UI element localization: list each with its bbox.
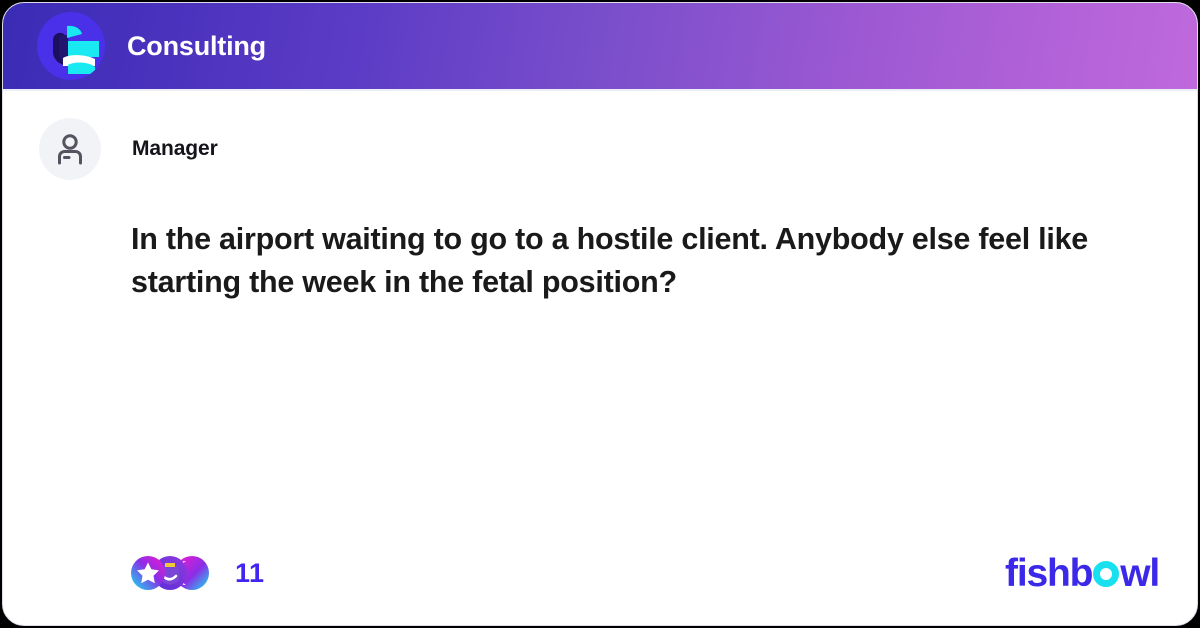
fishbowl-brand-wordmark: fishbwl	[1005, 554, 1159, 593]
card-body: Manager In the airport waiting to go to …	[3, 91, 1197, 625]
brand-text-first: fishb	[1005, 554, 1092, 593]
reactions-group[interactable]: 11	[131, 556, 265, 590]
reaction-badge-stack[interactable]	[131, 556, 209, 590]
brand-o-ring-icon	[1093, 561, 1119, 587]
fishbowl-logo-icon	[37, 12, 105, 80]
brand-text-second: wl	[1120, 554, 1159, 593]
card-header: Consulting	[3, 3, 1197, 89]
author-row: Manager	[3, 91, 1197, 180]
author-name: Manager	[132, 137, 218, 161]
post-text: In the airport waiting to go to a hostil…	[131, 218, 1107, 303]
channel-title: Consulting	[127, 31, 266, 62]
person-avatar-icon	[39, 118, 101, 180]
star-reaction-icon[interactable]	[131, 556, 165, 590]
post-card: Consulting Manager In the airport waitin…	[2, 2, 1198, 626]
reaction-count: 11	[235, 558, 265, 589]
card-footer: 11 fishbwl	[3, 545, 1197, 601]
